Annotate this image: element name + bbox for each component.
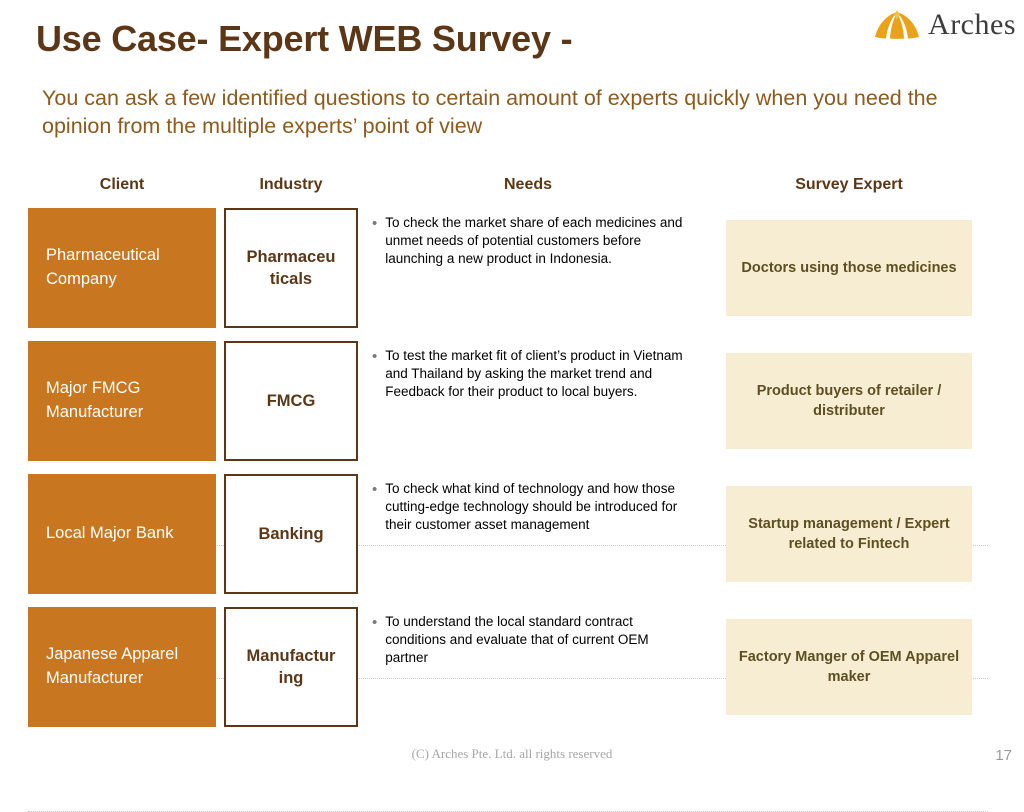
client-cell: Pharmaceutical Company <box>28 208 216 328</box>
bullet-icon: • <box>372 347 377 366</box>
brand-logo: Arches <box>871 4 1016 46</box>
brand-name: Arches <box>928 10 1016 40</box>
bullet-icon: • <box>372 480 377 499</box>
use-case-table: Pharmaceutical Company Pharmaceu ticals … <box>0 208 1024 740</box>
column-header-needs: Needs <box>370 176 686 194</box>
table-row: Local Major Bank Banking • To check what… <box>0 474 1024 594</box>
needs-cell: • To understand the local standard contr… <box>372 613 692 666</box>
slide-page-number: 17 <box>995 747 1012 764</box>
column-header-industry: Industry <box>224 176 358 194</box>
needs-cell: • To check the market share of each medi… <box>372 214 692 267</box>
column-header-client: Client <box>28 176 216 194</box>
client-cell: Local Major Bank <box>28 474 216 594</box>
page-title: Use Case- Expert WEB Survey - <box>36 18 572 60</box>
bullet-icon: • <box>372 613 377 632</box>
survey-expert-cell: Factory Manger of OEM Apparel maker <box>726 619 972 715</box>
survey-expert-cell: Product buyers of retailer / distributer <box>726 353 972 449</box>
needs-text: To check what kind of technology and how… <box>385 480 692 533</box>
table-row: Pharmaceutical Company Pharmaceu ticals … <box>0 208 1024 328</box>
table-column-headers: Client Industry Needs Survey Expert <box>0 176 1024 200</box>
needs-cell: • To test the market fit of client’s pro… <box>372 347 692 400</box>
arches-fan-icon <box>871 8 923 42</box>
page-subtitle: You can ask a few identified questions t… <box>42 84 942 141</box>
needs-cell: • To check what kind of technology and h… <box>372 480 692 533</box>
survey-expert-cell: Startup management / Expert related to F… <box>726 486 972 582</box>
needs-text: To test the market fit of client’s produ… <box>385 347 692 400</box>
survey-expert-cell: Doctors using those medicines <box>726 220 972 316</box>
client-cell: Major FMCG Manufacturer <box>28 341 216 461</box>
client-cell: Japanese Apparel Manufacturer <box>28 607 216 727</box>
needs-text: To understand the local standard contrac… <box>385 613 692 666</box>
industry-cell: Manufactur ing <box>224 607 358 727</box>
industry-cell: Pharmaceu ticals <box>224 208 358 328</box>
bullet-icon: • <box>372 214 377 233</box>
industry-cell: FMCG <box>224 341 358 461</box>
needs-text: To check the market share of each medici… <box>385 214 692 267</box>
table-row: Japanese Apparel Manufacturer Manufactur… <box>0 607 1024 727</box>
industry-cell: Banking <box>224 474 358 594</box>
footer-copyright: (C) Arches Pte. Ltd. all rights reserved <box>412 746 613 762</box>
column-header-survey-expert: Survey Expert <box>726 176 972 194</box>
table-row: Major FMCG Manufacturer FMCG • To test t… <box>0 341 1024 461</box>
